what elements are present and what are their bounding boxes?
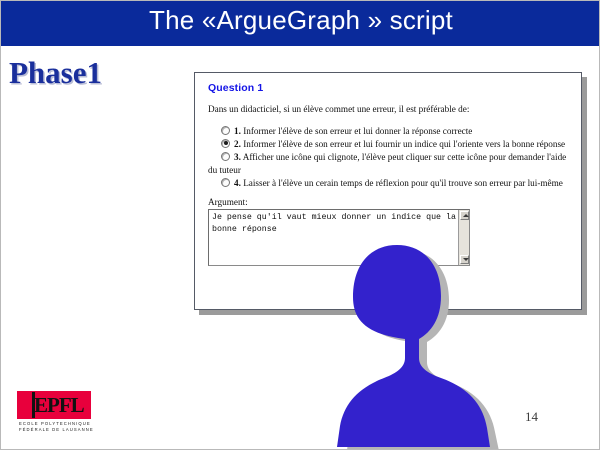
argument-label: Argument:: [208, 197, 569, 207]
argument-textarea[interactable]: Je pense qu'il vaut mieux donner un indi…: [208, 209, 470, 266]
option-row-1[interactable]: 1. Informer l'élève de son erreur et lui…: [208, 125, 569, 137]
option-label-3: Afficher une icône qui clignote, l'élève…: [208, 152, 566, 174]
scroll-down-arrow-icon[interactable]: [460, 255, 469, 264]
title-banner: The «ArgueGraph » script: [1, 1, 600, 46]
question-heading: Question 1: [208, 82, 569, 94]
radio-unselected-icon[interactable]: [221, 152, 230, 161]
phase-label: Phase1: [9, 55, 102, 91]
option-row-4[interactable]: 4. Laisser à l'élève un cerain temps de …: [208, 177, 569, 189]
option-number-4: 4.: [234, 178, 241, 188]
option-number-1: 1.: [234, 126, 241, 136]
option-row-2[interactable]: 2. Informer l'élève de son erreur et lui…: [208, 138, 569, 150]
option-label-4: Laisser à l'élève un cerain temps de réf…: [243, 178, 563, 188]
question-prompt: Dans un didacticiel, si un élève commet …: [208, 104, 569, 116]
question-form-card: Question 1 Dans un didacticiel, si un él…: [194, 72, 582, 310]
option-number-2: 2.: [234, 139, 241, 149]
option-row-3[interactable]: 3. Afficher une icône qui clignote, l'él…: [208, 151, 569, 176]
radio-selected-icon[interactable]: [221, 139, 230, 148]
page-number: 14: [525, 409, 538, 425]
banner-underline: [1, 46, 600, 48]
argument-text-value[interactable]: Je pense qu'il vaut mieux donner un indi…: [212, 212, 456, 236]
radio-unselected-icon[interactable]: [221, 126, 230, 135]
logo-caption-line-2: FÉDÉRALE DE LAUSANNE: [19, 427, 94, 432]
scroll-up-arrow-icon[interactable]: [460, 211, 469, 220]
option-label-2: Informer l'élève de son erreur et lui fo…: [243, 139, 565, 149]
epfl-logo: EPFL ECOLE POLYTECHNIQUE FÉDÉRALE DE LAU…: [17, 391, 99, 433]
logo-wordmark: EPFL: [34, 392, 78, 419]
presentation-slide: The «ArgueGraph » script Phase1 Question…: [0, 0, 600, 450]
option-number-3: 3.: [234, 152, 241, 162]
option-label-1: Informer l'élève de son erreur et lui do…: [243, 126, 472, 136]
radio-unselected-icon[interactable]: [221, 178, 230, 187]
slide-title: The «ArgueGraph » script: [1, 5, 600, 36]
logo-caption-line-1: ECOLE POLYTECHNIQUE: [19, 421, 91, 426]
textarea-scrollbar[interactable]: [458, 210, 469, 265]
